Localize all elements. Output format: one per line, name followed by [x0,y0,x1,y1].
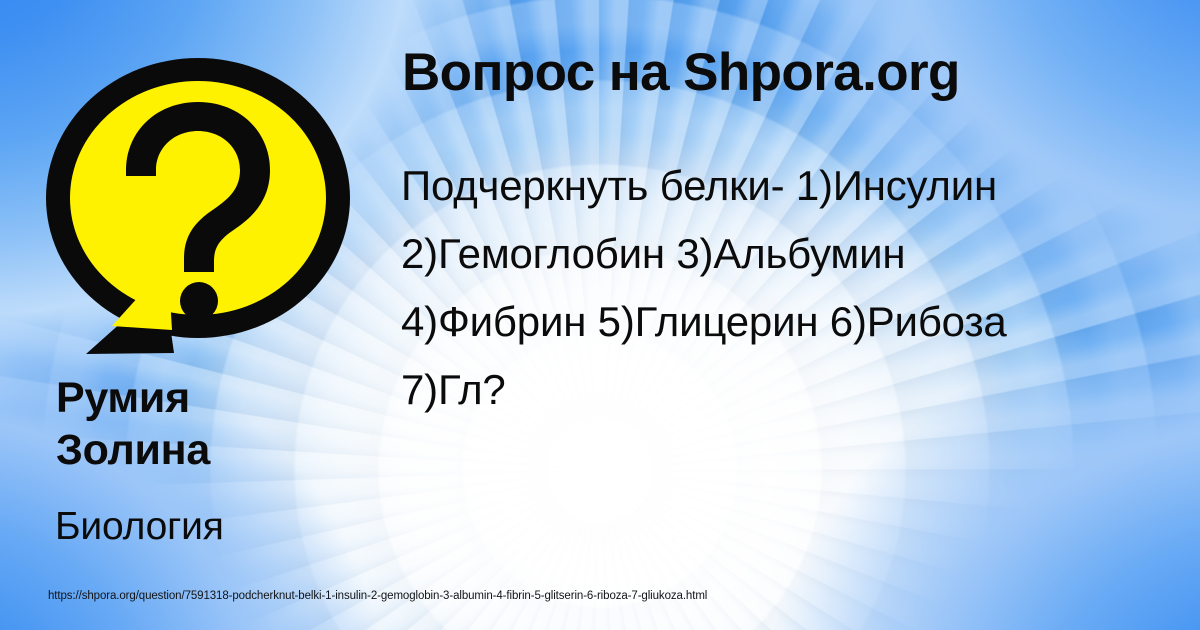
question-speech-bubble-icon [46,58,356,358]
question-line: Подчеркнуть белки- 1)Инсулин [401,152,1191,220]
author-name-line: Золина [56,424,386,476]
author-name: Румия Золина [56,372,386,476]
source-url[interactable]: https://shpora.org/question/7591318-podc… [48,590,707,602]
question-line: 7)Гл? [401,356,1191,424]
page-title: Вопрос на Shpora.org [402,45,1182,101]
question-line: 4)Фибрин 5)Глицерин 6)Рибоза [401,288,1191,356]
subject-label: Биология [55,504,385,550]
question-line: 2)Гемоглобин 3)Альбумин [401,220,1191,288]
question-bubble-icon [46,58,356,358]
author-name-line: Румия [56,372,386,424]
question-text: Подчеркнуть белки- 1)Инсулин 2)Гемоглоби… [401,152,1191,424]
share-card: Вопрос на Shpora.org Подчеркнуть белки- … [0,0,1200,630]
